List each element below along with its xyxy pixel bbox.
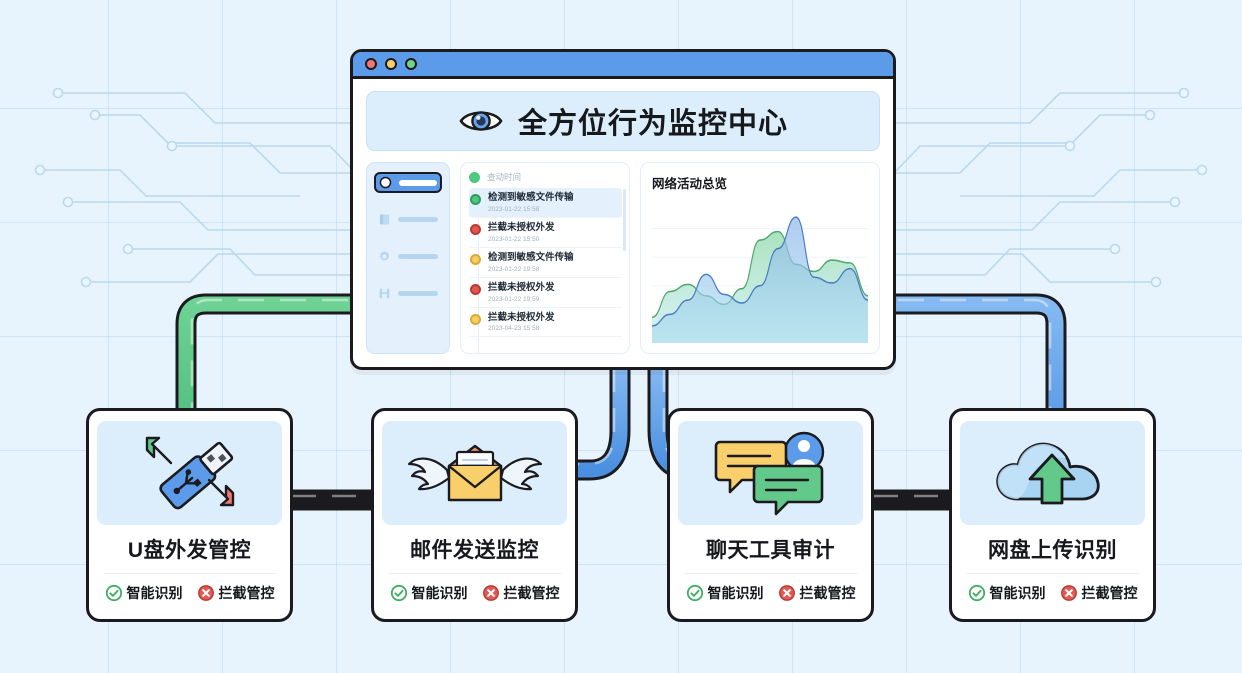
monitor-window: 全方位行为监控中心 bbox=[350, 49, 896, 370]
badge-smart-recognition: 智能识别 bbox=[686, 583, 764, 603]
card-badges: 智能识别 拦截管控 bbox=[686, 583, 856, 603]
badge-label: 智能识别 bbox=[708, 583, 764, 603]
activity-text: 拦截未授权外发2023-04-23 15:58 bbox=[488, 312, 555, 333]
badge-smart-recognition: 智能识别 bbox=[390, 583, 468, 603]
activity-status-dot bbox=[470, 194, 481, 205]
card-badges: 智能识别 拦截管控 bbox=[390, 583, 560, 603]
card-badges: 智能识别 拦截管控 bbox=[968, 583, 1138, 603]
activity-text: 检测到敏感文件传输2023-01-22 15:58 bbox=[488, 192, 574, 213]
activity-row[interactable]: 拦截未授权外发2023-01-22 15:50 bbox=[469, 218, 622, 248]
window-titlebar bbox=[353, 52, 893, 79]
check-circle-icon bbox=[390, 584, 408, 602]
database-icon bbox=[378, 287, 391, 300]
sidebar-item-documents[interactable] bbox=[374, 209, 442, 230]
maximize-button[interactable] bbox=[405, 58, 417, 70]
status-dot bbox=[469, 172, 480, 183]
activity-status-dot bbox=[470, 314, 481, 325]
dashboard-icon bbox=[379, 176, 392, 189]
card-icon-wrap bbox=[678, 421, 863, 525]
activity-timestamp: 2023-01-22 19:59 bbox=[488, 296, 555, 303]
activity-timestamp: 2023-01-22 15:50 bbox=[488, 236, 555, 243]
badge-smart-recognition: 智能识别 bbox=[968, 583, 1046, 603]
badge-block-control: 拦截管控 bbox=[197, 583, 275, 603]
badge-label: 拦截管控 bbox=[800, 583, 856, 603]
activity-row[interactable]: 检测到敏感文件传输2023-01-22 15:58 bbox=[469, 188, 622, 218]
activity-timestamp: 2023-04-23 15:58 bbox=[488, 325, 555, 332]
activity-text: 检测到敏感文件传输2023-01-22 19:58 bbox=[488, 252, 574, 273]
usb-drive-icon bbox=[131, 430, 249, 516]
window-panels: 查动时间 检测到敏感文件传输2023-01-22 15:58拦截未授权外发202… bbox=[366, 162, 880, 354]
badge-block-control: 拦截管控 bbox=[778, 583, 856, 603]
card-divider bbox=[967, 573, 1139, 574]
badge-label: 智能识别 bbox=[127, 583, 183, 603]
activity-timestamp: 2023-01-22 19:58 bbox=[488, 266, 574, 273]
page-title: 全方位行为监控中心 bbox=[518, 100, 788, 142]
badge-label: 拦截管控 bbox=[219, 583, 275, 603]
minimize-button[interactable] bbox=[385, 58, 397, 70]
card-title: U盘外发管控 bbox=[128, 534, 251, 564]
feature-card-usb-control[interactable]: U盘外发管控 智能识别 拦截管控 bbox=[86, 408, 293, 622]
badge-block-control: 拦截管控 bbox=[1060, 583, 1138, 603]
activity-list-header: 查动时间 bbox=[469, 171, 622, 183]
feature-card-cloud-upload[interactable]: 网盘上传识别 智能识别 拦截管控 bbox=[949, 408, 1156, 622]
pipe-link-card3-card4 bbox=[868, 496, 958, 500]
card-divider bbox=[685, 573, 857, 574]
document-icon bbox=[378, 213, 391, 226]
activity-title: 拦截未授权外发 bbox=[488, 312, 555, 324]
activity-text: 拦截未授权外发2023-01-22 19:59 bbox=[488, 282, 555, 303]
pipe-link-card1-card2 bbox=[286, 496, 376, 500]
activity-row[interactable]: 拦截未授权外发2023-04-23 15:58 bbox=[469, 308, 622, 338]
badge-block-control: 拦截管控 bbox=[482, 583, 560, 603]
activity-title: 检测到敏感文件传输 bbox=[488, 192, 574, 204]
chart-plot-area bbox=[652, 200, 868, 343]
sidebar-item-label bbox=[398, 254, 438, 259]
check-circle-icon bbox=[686, 584, 704, 602]
window-body: 全方位行为监控中心 bbox=[353, 79, 893, 367]
card-divider bbox=[104, 573, 276, 574]
winged-envelope-icon bbox=[405, 430, 545, 516]
card-title: 邮件发送监控 bbox=[410, 534, 539, 564]
badge-label: 拦截管控 bbox=[1082, 583, 1138, 603]
card-title: 网盘上传识别 bbox=[988, 534, 1117, 564]
x-circle-icon bbox=[1060, 584, 1078, 602]
activity-text: 拦截未授权外发2023-01-22 15:50 bbox=[488, 222, 555, 243]
card-icon-wrap bbox=[960, 421, 1145, 525]
sidebar-item-database[interactable] bbox=[374, 283, 442, 304]
chart-title: 网络活动总览 bbox=[652, 173, 868, 192]
x-circle-icon bbox=[197, 584, 215, 602]
activity-scrollbar[interactable] bbox=[623, 189, 626, 251]
activity-status-dot bbox=[470, 284, 481, 295]
check-circle-icon bbox=[105, 584, 123, 602]
activity-status-dot bbox=[470, 254, 481, 265]
eye-icon bbox=[458, 106, 504, 136]
activity-list[interactable]: 查动时间 检测到敏感文件传输2023-01-22 15:58拦截未授权外发202… bbox=[460, 162, 630, 354]
activity-row[interactable]: 检测到敏感文件传输2023-01-22 19:58 bbox=[469, 248, 622, 278]
badge-smart-recognition: 智能识别 bbox=[105, 583, 183, 603]
activity-timestamp: 2023-01-22 15:58 bbox=[488, 206, 574, 213]
gear-icon bbox=[378, 250, 391, 263]
sidebar-item-label bbox=[398, 291, 438, 296]
sidebar-item-settings[interactable] bbox=[374, 246, 442, 267]
x-circle-icon bbox=[778, 584, 796, 602]
sidebar bbox=[366, 162, 450, 354]
card-divider bbox=[389, 573, 561, 574]
badge-label: 拦截管控 bbox=[504, 583, 560, 603]
sidebar-item-label bbox=[399, 180, 437, 186]
activity-title: 检测到敏感文件传输 bbox=[488, 252, 574, 264]
chat-bubbles-icon bbox=[708, 428, 833, 518]
activity-list-header-label: 查动时间 bbox=[487, 171, 521, 183]
area-chart-svg bbox=[652, 200, 868, 343]
badge-label: 智能识别 bbox=[412, 583, 468, 603]
close-button[interactable] bbox=[365, 58, 377, 70]
activity-status-dot bbox=[470, 224, 481, 235]
card-badges: 智能识别 拦截管控 bbox=[105, 583, 275, 603]
feature-card-chat-audit[interactable]: 聊天工具审计 智能识别 拦截管控 bbox=[667, 408, 874, 622]
activity-rows: 检测到敏感文件传输2023-01-22 15:58拦截未授权外发2023-01-… bbox=[469, 188, 622, 337]
x-circle-icon bbox=[482, 584, 500, 602]
cloud-upload-icon bbox=[990, 429, 1115, 517]
chart-panel: 网络活动总览 bbox=[640, 162, 880, 354]
app-header: 全方位行为监控中心 bbox=[366, 91, 880, 151]
activity-title: 拦截未授权外发 bbox=[488, 282, 555, 294]
activity-row[interactable]: 拦截未授权外发2023-01-22 19:59 bbox=[469, 278, 622, 308]
card-icon-wrap bbox=[97, 421, 282, 525]
card-title: 聊天工具审计 bbox=[706, 534, 835, 564]
check-circle-icon bbox=[968, 584, 986, 602]
sidebar-item-dashboard[interactable] bbox=[374, 172, 442, 193]
badge-label: 智能识别 bbox=[990, 583, 1046, 603]
sidebar-item-label bbox=[398, 217, 438, 222]
card-icon-wrap bbox=[382, 421, 567, 525]
activity-title: 拦截未授权外发 bbox=[488, 222, 555, 234]
feature-card-mail-monitor[interactable]: 邮件发送监控 智能识别 拦截管控 bbox=[371, 408, 578, 622]
